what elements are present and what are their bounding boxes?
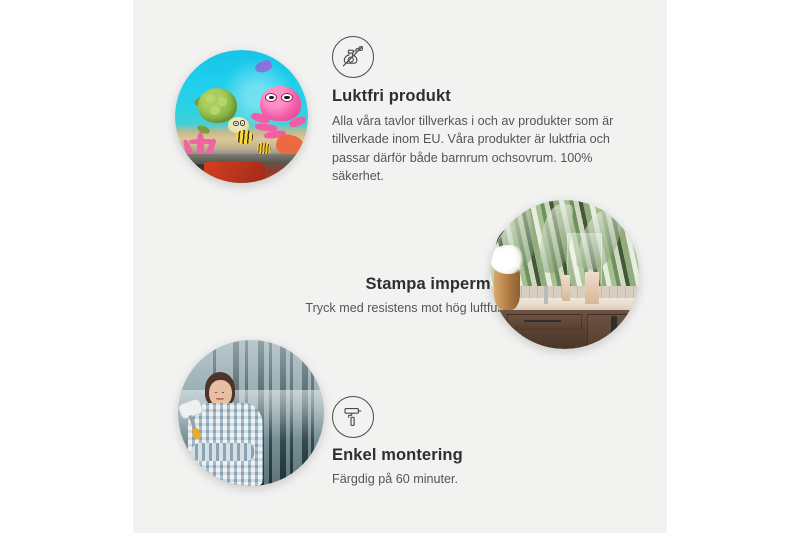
sea-floor	[175, 154, 308, 183]
vanity-drawer	[507, 314, 582, 330]
person-folded-arms	[191, 443, 255, 461]
turtle-eye	[233, 121, 238, 127]
feature-mounting-title: Enkel montering	[332, 446, 632, 466]
feature-odorless-body: Alla våra tavlor tillverkas i och av pro…	[332, 112, 632, 186]
feature-waterproof-icon-wrap	[208, 226, 538, 268]
feature-mounting-body: Färgdig på 60 minuter.	[332, 470, 632, 488]
feature-mounting: Enkel montering Färgdig på 60 minuter.	[332, 396, 632, 488]
turtle-shell-spot	[218, 97, 227, 106]
feature-odorless-title: Luktfri produkt	[332, 87, 632, 107]
bathroom-flowers	[490, 245, 526, 275]
person-smile	[216, 398, 223, 400]
sea-floor-shipwreck	[204, 162, 265, 182]
bathroom-vanity	[499, 310, 639, 349]
turtle-shell-spot	[210, 106, 220, 115]
octopus-head	[260, 86, 301, 121]
photo-bathroom[interactable]	[490, 200, 639, 349]
octopus-eye	[265, 93, 277, 102]
no-perfume-spray-icon	[332, 36, 374, 78]
feature-waterproof: Stampa impermeabile Tryck med resistens …	[208, 226, 538, 317]
bathroom-faucet	[544, 286, 548, 304]
feature-waterproof-title: Stampa impermeabile	[208, 275, 538, 295]
turtle-shell-spot	[205, 94, 215, 103]
photo-forest-decorator[interactable]	[178, 340, 324, 486]
photo-forest-decorator-inner	[178, 340, 324, 486]
vanity-door	[587, 314, 631, 349]
feature-waterproof-body: Tryck med resistens mot hög luftfuktighe…	[208, 299, 538, 317]
vanity-door-pull	[611, 316, 617, 335]
photo-sea-life-inner	[175, 50, 308, 183]
feature-odorless: Luktfri produkt Alla våra tavlor tillver…	[332, 36, 632, 185]
photo-sea-life[interactable]	[175, 50, 308, 183]
content-panel: Luktfri produkt Alla våra tavlor tillver…	[133, 0, 667, 533]
photo-bathroom-inner	[490, 200, 639, 349]
paint-roller-icon	[332, 396, 374, 438]
person-eye	[215, 392, 217, 393]
screenshot-frame: Luktfri produkt Alla våra tavlor tillver…	[0, 0, 800, 533]
coral-branch	[189, 139, 216, 144]
person-eye	[222, 392, 224, 393]
bathroom-soap-dispenser	[562, 275, 571, 302]
turtle-eye	[240, 120, 245, 126]
vanity-drawer-pull	[524, 320, 560, 322]
decorator-person	[187, 372, 263, 486]
octopus-eye	[281, 93, 293, 102]
fish-yellow-small-icon	[257, 143, 270, 154]
bathroom-towel-roll	[585, 272, 598, 305]
